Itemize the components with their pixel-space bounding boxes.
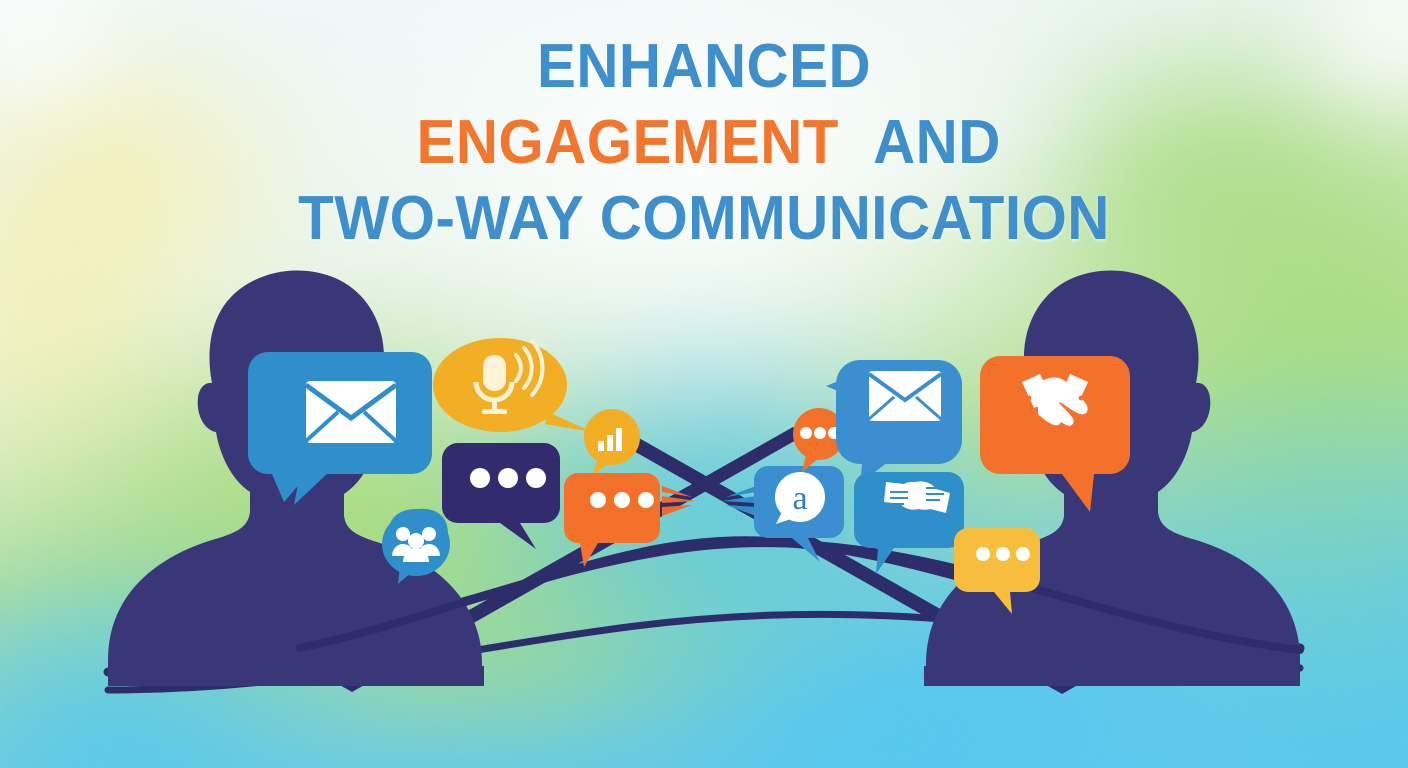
bubbles-layer: a [0,0,1408,768]
ellipsis-icon [470,468,546,488]
arrow-right-chevrons [662,486,696,516]
bubble-community-left[interactable] [382,509,450,584]
bubble-typing-right[interactable] [954,528,1040,614]
ellipsis-icon [976,547,1030,561]
envelope-icon [306,381,396,443]
bubble-email-right[interactable] [826,360,962,488]
bubble-feedback-right[interactable] [854,472,964,574]
bubble-email-left[interactable] [248,352,432,505]
bubble-voice-left[interactable] [433,338,592,432]
bubble-chat-orange-mid[interactable] [564,473,660,567]
svg-text:a: a [792,480,807,517]
ellipsis-icon [590,492,654,508]
envelope-icon [869,371,941,421]
bubble-analytics-mid[interactable] [584,409,640,476]
ellipsis-icon [800,427,840,439]
bubble-mention-mid[interactable]: a [754,466,844,562]
bubble-typing-left[interactable] [442,443,560,549]
bubble-agreement-right[interactable] [980,356,1130,512]
arrow-left-chevrons [722,486,756,516]
poster-canvas: a [0,0,1408,768]
